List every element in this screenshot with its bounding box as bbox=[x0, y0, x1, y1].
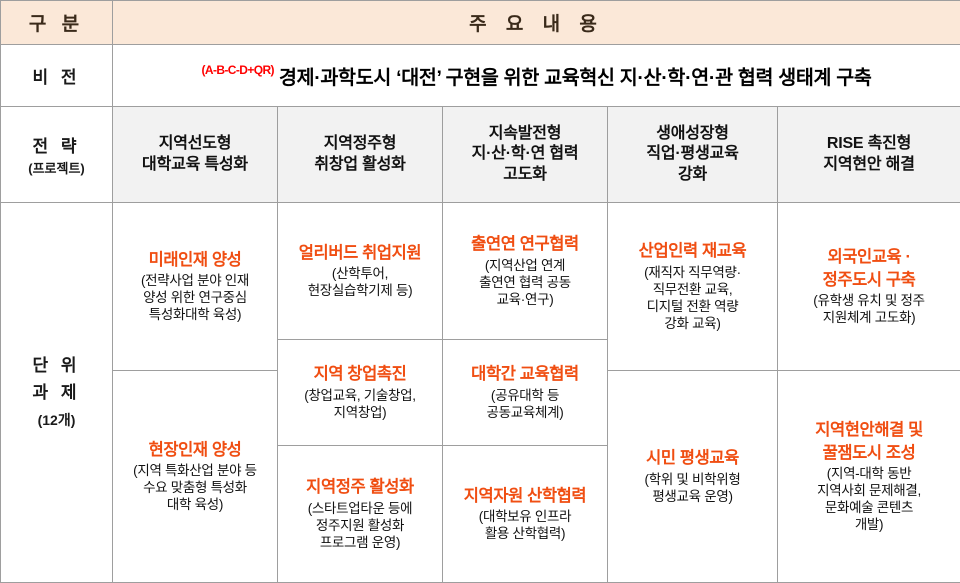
task-c2-r3: 지역정주 활성화 (스타트업타운 등에 정주지원 활성화 프로그램 운영) bbox=[278, 445, 443, 582]
strategy-label: 전 략 (프로젝트) bbox=[1, 107, 113, 203]
strategy-label-sub: (프로젝트) bbox=[1, 158, 112, 177]
task-c2-r2-title: 지역 창업촉진 bbox=[278, 364, 442, 385]
unit-task-label-line1: 단 위 bbox=[1, 353, 112, 379]
strategy-item-1-line1: 지역정주형 bbox=[324, 135, 397, 152]
vision-label: 비 전 bbox=[1, 45, 113, 107]
unit-task-label-line2: 과 제 bbox=[1, 380, 112, 406]
task-c3-r2-desc-0: (공유대학 등 bbox=[443, 387, 607, 404]
policy-table-sheet: 구 분 주 요 내 용 비 전 (A-B-C-D+QR) 경제·과학도시 ‘대전… bbox=[0, 0, 960, 583]
vision-content: (A-B-C-D+QR) 경제·과학도시 ‘대전’ 구현을 위한 교육혁신 지·… bbox=[113, 45, 960, 107]
task-c5-r1: 외국인교육 · 정주도시 구축 (유학생 유치 및 정주 지원체계 고도화) bbox=[778, 203, 960, 371]
task-c3-r2-desc-1: 공동교육체계) bbox=[443, 404, 607, 421]
strategy-item-3-line2: 직업·평생교육 bbox=[646, 145, 738, 162]
task-c2-r1-title: 얼리버드 취업지원 bbox=[278, 243, 442, 264]
task-c2-r1-desc-1: 현장실습학기제 등) bbox=[278, 282, 442, 299]
strategy-item-2-line1: 지속발전형 bbox=[489, 125, 562, 142]
strategy-item-4-line2: 지역현안 해결 bbox=[823, 156, 914, 173]
task-c2-r1: 얼리버드 취업지원 (산학투어, 현장실습학기제 등) bbox=[278, 203, 443, 340]
task-c4-r2: 시민 평생교육 (학위 및 비학위형 평생교육 운영) bbox=[608, 371, 778, 583]
task-c2-r3-desc-2: 프로그램 운영) bbox=[278, 534, 442, 551]
strategy-label-text: 전 략 bbox=[32, 137, 80, 156]
task-c4-r1-desc-0: (재직자 직무역량· bbox=[608, 264, 777, 281]
strategy-item-2-line3: 고도화 bbox=[503, 166, 547, 183]
task-c1-r1-desc-0: (전략사업 분야 인재 bbox=[113, 272, 277, 289]
task-c3-r1-title: 출연연 연구협력 bbox=[443, 234, 607, 255]
strategy-item-3-line1: 생애성장형 bbox=[656, 125, 729, 142]
task-c1-r2-desc-2: 대학 육성) bbox=[113, 496, 277, 513]
task-c4-r2-desc-0: (학위 및 비학위형 bbox=[608, 471, 777, 488]
task-c3-r3: 지역자원 산학협력 (대학보유 인프라 활용 산학협력) bbox=[443, 445, 608, 582]
task-c4-r2-title: 시민 평생교육 bbox=[608, 448, 777, 469]
strategy-item-2: 지속발전형 지·산·학·연 협력 고도화 bbox=[443, 107, 608, 203]
task-c3-r1-desc-1: 출연연 협력 공동 bbox=[443, 274, 607, 291]
strategy-item-0-line2: 대학교육 특성화 bbox=[142, 156, 248, 173]
task-c1-r1-desc-2: 특성화대학 육성) bbox=[113, 306, 277, 323]
task-c5-r1-title-1: 정주도시 구축 bbox=[778, 270, 960, 291]
strategy-item-1: 지역정주형 취창업 활성화 bbox=[278, 107, 443, 203]
task-c2-r2-desc-0: (창업교육, 기술창업, bbox=[278, 387, 442, 404]
task-c4-r1-title: 산업인력 재교육 bbox=[608, 241, 777, 262]
strategy-item-4: RISE 촉진형 지역현안 해결 bbox=[778, 107, 960, 203]
unit-task-label: 단 위 과 제 (12개) bbox=[1, 203, 113, 583]
task-c1-r2-desc-0: (지역 특화산업 분야 등 bbox=[113, 462, 277, 479]
task-c3-r3-desc-0: (대학보유 인프라 bbox=[443, 508, 607, 525]
task-c1-r1: 미래인재 양성 (전략사업 분야 인재 양성 위한 연구중심 특성화대학 육성) bbox=[113, 203, 278, 371]
task-c5-r2-desc-2: 문화예술 콘텐츠 bbox=[778, 499, 960, 516]
task-c2-r2: 지역 창업촉진 (창업교육, 기술창업, 지역창업) bbox=[278, 340, 443, 446]
task-c5-r1-desc-1: 지원체계 고도화) bbox=[778, 309, 960, 326]
header-content-column: 주 요 내 용 bbox=[113, 1, 960, 45]
table-header-row: 구 분 주 요 내 용 bbox=[1, 1, 960, 45]
task-c4-r1-desc-3: 강화 교육) bbox=[608, 315, 777, 332]
task-c2-r3-desc-1: 정주지원 활성화 bbox=[278, 517, 442, 534]
vision-row: 비 전 (A-B-C-D+QR) 경제·과학도시 ‘대전’ 구현을 위한 교육혁… bbox=[1, 45, 960, 107]
task-c1-r2-title: 현장인재 양성 bbox=[113, 440, 277, 461]
task-c2-r3-desc-0: (스타트업타운 등에 bbox=[278, 500, 442, 517]
strategy-item-2-line2: 지·산·학·연 협력 bbox=[472, 145, 579, 162]
task-c4-r1: 산업인력 재교육 (재직자 직무역량· 직무전환 교육, 디지털 전환 역량 강… bbox=[608, 203, 778, 371]
vision-code-tag: (A-B-C-D+QR) bbox=[201, 63, 273, 77]
task-c2-r3-title: 지역정주 활성화 bbox=[278, 477, 442, 498]
task-c5-r1-title-0: 외국인교육 · bbox=[778, 247, 960, 268]
task-c3-r1-desc-0: (지역산업 연계 bbox=[443, 257, 607, 274]
strategy-item-1-line2: 취창업 활성화 bbox=[314, 156, 405, 173]
strategy-item-3: 생애성장형 직업·평생교육 강화 bbox=[608, 107, 778, 203]
task-c3-r2: 대학간 교육협력 (공유대학 등 공동교육체계) bbox=[443, 340, 608, 446]
strategy-item-4-line1: RISE 촉진형 bbox=[827, 135, 911, 152]
strategy-item-3-line3: 강화 bbox=[678, 166, 707, 183]
task-c3-r3-title: 지역자원 산학협력 bbox=[443, 486, 607, 507]
task-c5-r2-desc-0: (지역-대학 동반 bbox=[778, 465, 960, 482]
task-c3-r1-desc-2: 교육·연구) bbox=[443, 291, 607, 308]
task-c5-r2-desc-1: 지역사회 문제해결, bbox=[778, 482, 960, 499]
task-c4-r1-desc-1: 직무전환 교육, bbox=[608, 281, 777, 298]
vision-statement: 경제·과학도시 ‘대전’ 구현을 위한 교육혁신 지·산·학·연·관 협력 생태… bbox=[279, 61, 872, 90]
task-c5-r2: 지역현안해결 및 꿀잼도시 조성 (지역-대학 동반 지역사회 문제해결, 문화… bbox=[778, 371, 960, 583]
task-c5-r1-desc-0: (유학생 유치 및 정주 bbox=[778, 292, 960, 309]
task-c5-r2-title-1: 꿀잼도시 조성 bbox=[778, 443, 960, 464]
task-c4-r1-desc-2: 디지털 전환 역량 bbox=[608, 298, 777, 315]
task-c3-r2-title: 대학간 교육협력 bbox=[443, 364, 607, 385]
task-c3-r3-desc-1: 활용 산학협력) bbox=[443, 525, 607, 542]
task-c1-r1-title: 미래인재 양성 bbox=[113, 250, 277, 271]
rise-plan-table: 구 분 주 요 내 용 비 전 (A-B-C-D+QR) 경제·과학도시 ‘대전… bbox=[0, 0, 960, 583]
task-c4-r2-desc-1: 평생교육 운영) bbox=[608, 488, 777, 505]
task-c2-r2-desc-1: 지역창업) bbox=[278, 404, 442, 421]
task-c1-r1-desc-1: 양성 위한 연구중심 bbox=[113, 289, 277, 306]
header-label-column: 구 분 bbox=[1, 1, 113, 45]
strategy-item-0: 지역선도형 대학교육 특성화 bbox=[113, 107, 278, 203]
task-c5-r2-desc-3: 개발) bbox=[778, 516, 960, 533]
strategy-item-0-line1: 지역선도형 bbox=[159, 135, 232, 152]
task-c1-r2: 현장인재 양성 (지역 특화산업 분야 등 수요 맞춤형 특성화 대학 육성) bbox=[113, 371, 278, 583]
task-c1-r2-desc-1: 수요 맞춤형 특성화 bbox=[113, 479, 277, 496]
strategy-row: 전 략 (프로젝트) 지역선도형 대학교육 특성화 지역정주형 취창업 활성화 … bbox=[1, 107, 960, 203]
unit-task-count: (12개) bbox=[1, 410, 112, 432]
task-c2-r1-desc-0: (산학투어, bbox=[278, 265, 442, 282]
task-c3-r1: 출연연 연구협력 (지역산업 연계 출연연 협력 공동 교육·연구) bbox=[443, 203, 608, 340]
task-c5-r2-title-0: 지역현안해결 및 bbox=[778, 420, 960, 441]
